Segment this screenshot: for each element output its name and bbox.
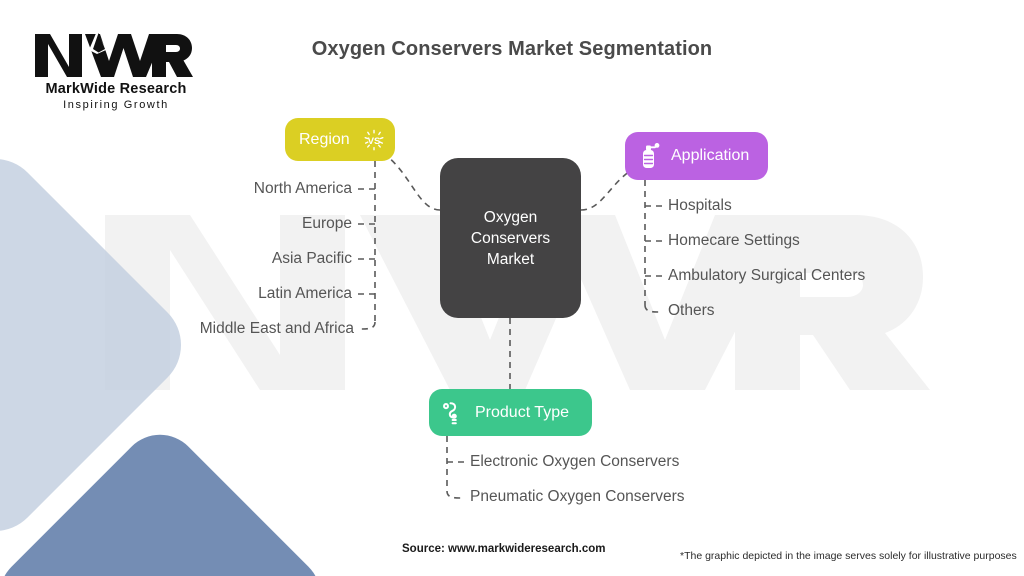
wire-producttype-item-1	[447, 491, 462, 498]
branch-badge-region[interactable]: Region VS	[285, 118, 395, 161]
center-node-line-1: Oxygen	[471, 207, 550, 228]
branch-label-application: Application	[671, 147, 749, 165]
svg-text:VS: VS	[368, 135, 381, 146]
center-node-line-2: Conservers	[471, 228, 550, 249]
branch-label-product-type: Product Type	[475, 404, 569, 422]
branch-badge-application[interactable]: Application	[625, 132, 768, 180]
center-node: Oxygen Conservers Market	[440, 158, 581, 318]
branch-label-region: Region	[299, 131, 350, 149]
wire-application-item-3	[645, 305, 660, 312]
sparkle-vs-icon: VS	[363, 129, 385, 151]
center-node-line-3: Market	[471, 249, 550, 270]
oxygen-cylinder-icon	[637, 142, 661, 170]
infographic-canvas: MarkWide Research Inspiring Growth Oxyge…	[0, 0, 1024, 576]
medical-device-icon	[441, 399, 467, 427]
branch-badge-product-type[interactable]: Product Type	[429, 389, 592, 436]
wire-region-item-4	[360, 322, 375, 329]
center-node-label: Oxygen Conservers Market	[471, 207, 550, 270]
